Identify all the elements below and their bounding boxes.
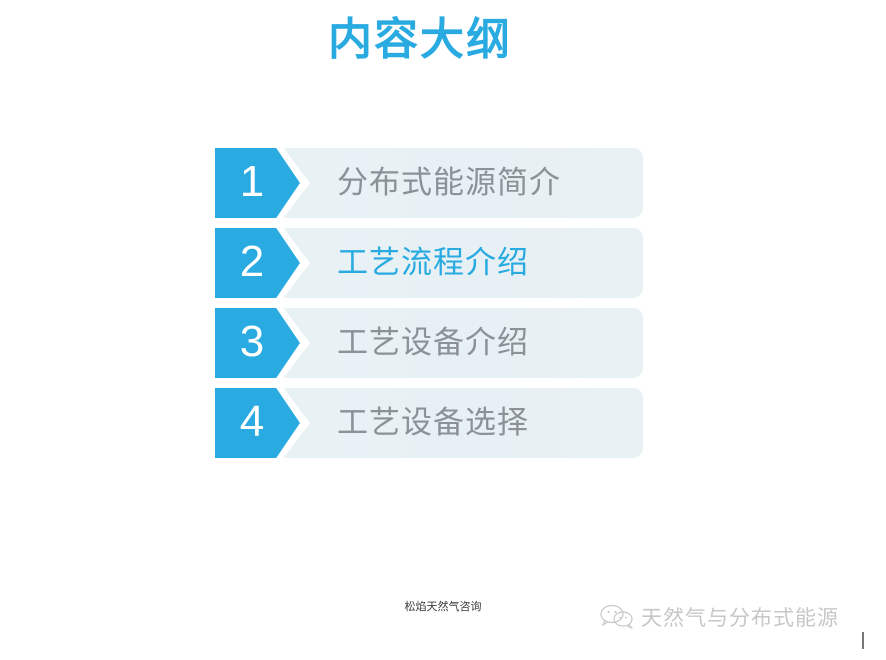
wechat-icon [600,604,634,630]
outline-item-label: 工艺设备介绍 [337,308,529,378]
outline-item-number: 2 [215,228,289,298]
outline-item-3[interactable]: 3 工艺设备介绍 [215,308,643,378]
text-cursor-mark [862,632,864,649]
outline-item-number: 4 [215,388,289,458]
outline-item-1[interactable]: 1 分布式能源简介 [215,148,643,218]
outline-item-label: 工艺设备选择 [337,388,529,458]
outline-item-number: 1 [215,148,289,218]
outline-item-label: 分布式能源简介 [337,148,561,218]
outline-item-label: 工艺流程介绍 [337,228,529,298]
outline-item-2[interactable]: 2 工艺流程介绍 [215,228,643,298]
outline-item-number: 3 [215,308,289,378]
page-title: 内容大纲 [0,14,840,67]
outline-list: 1 分布式能源简介 2 工艺流程介绍 3 工艺设备介绍 4 工艺设备选择 [215,148,643,458]
watermark: 天然气与分布式能源 [600,602,839,632]
watermark-text: 天然气与分布式能源 [641,602,839,632]
outline-item-4[interactable]: 4 工艺设备选择 [215,388,643,458]
